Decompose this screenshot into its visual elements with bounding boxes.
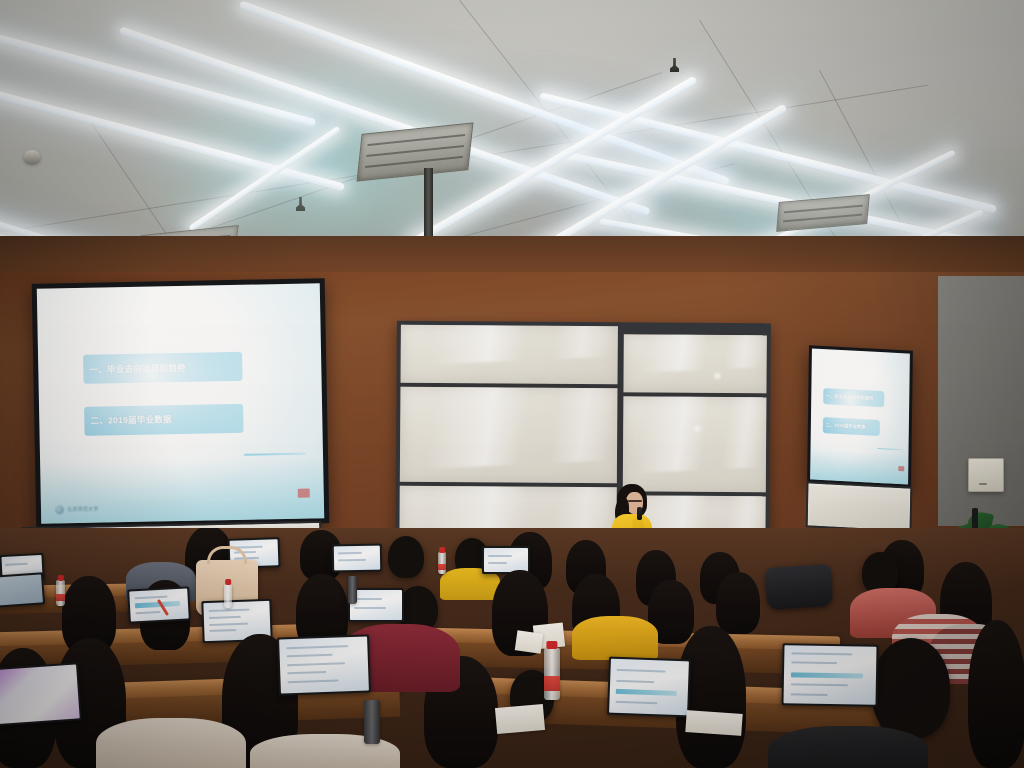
student-head <box>388 536 424 578</box>
student-head <box>968 620 1024 768</box>
water-bottle <box>438 552 446 574</box>
student-body <box>572 616 658 660</box>
logo-mark-icon <box>55 505 64 514</box>
slide-bullet-2: 二、2019届毕业数据 <box>84 403 243 435</box>
water-bottle <box>544 648 560 700</box>
student-laptop[interactable] <box>0 662 82 727</box>
whiteboard-panel <box>623 396 767 492</box>
slide-logo-text: 北京师范大学 <box>67 505 99 513</box>
student-laptop[interactable] <box>781 643 878 707</box>
water-bottle <box>364 700 380 744</box>
papers <box>685 710 742 736</box>
student-laptop[interactable] <box>277 634 371 695</box>
student-head <box>716 572 760 634</box>
audience-seating-area <box>0 528 1024 768</box>
presenter-glasses <box>628 500 642 502</box>
slide-accent-block <box>298 488 310 497</box>
student-head <box>872 638 950 738</box>
whiteboard-panel <box>401 325 618 385</box>
student-body <box>768 726 928 768</box>
water-bottle <box>348 576 357 604</box>
slide-bullet-2-right: 二、2019届毕业数据 <box>823 417 880 436</box>
smoke-detector-icon <box>24 150 40 163</box>
slide-accent-block-right <box>898 466 904 471</box>
slide-bottom-tint <box>40 457 324 524</box>
student-body <box>96 718 246 768</box>
slide-canvas: 一、毕业去向选择和趋势 二、2019届毕业数据 北京师范大学 <box>37 283 324 523</box>
electrical-box <box>968 458 1004 492</box>
slide-canvas-right: 一、毕业去向选择和趋势 二、2019届毕业数据 <box>810 348 910 484</box>
student-laptop[interactable] <box>607 657 691 718</box>
student-laptop[interactable] <box>332 544 382 573</box>
slide-university-logo: 北京师范大学 <box>55 504 99 514</box>
left-projection-screen: 一、毕业去向选择和趋势 二、2019届毕业数据 北京师范大学 <box>32 278 330 529</box>
water-bottle <box>224 584 232 608</box>
whiteboard-panel <box>623 334 766 393</box>
lecture-hall-photo: 一、毕业去向选择和趋势 二、2019届毕业数据 北京师范大学 一、毕业去向 <box>0 0 1024 768</box>
student-laptop[interactable] <box>0 572 45 607</box>
whiteboard-panel <box>400 387 618 484</box>
right-whiteboard-strip <box>806 481 913 533</box>
papers <box>495 704 545 734</box>
right-projection-screen: 一、毕业去向选择和趋势 二、2019届毕业数据 <box>807 345 913 487</box>
slide-accent-rule <box>244 453 306 456</box>
slide-bottom-tint-right <box>810 448 908 485</box>
slide-bullet-1: 一、毕业去向选择和趋势 <box>83 352 242 384</box>
papers <box>515 630 544 653</box>
sprinkler-icon <box>670 58 679 72</box>
water-bottle <box>56 580 65 606</box>
slide-bullet-1-right: 一、毕业去向选择和趋势 <box>823 388 884 407</box>
slide-accent-rule-right <box>877 448 902 451</box>
backpack <box>765 564 834 611</box>
handheld-microphone[interactable] <box>637 507 642 520</box>
